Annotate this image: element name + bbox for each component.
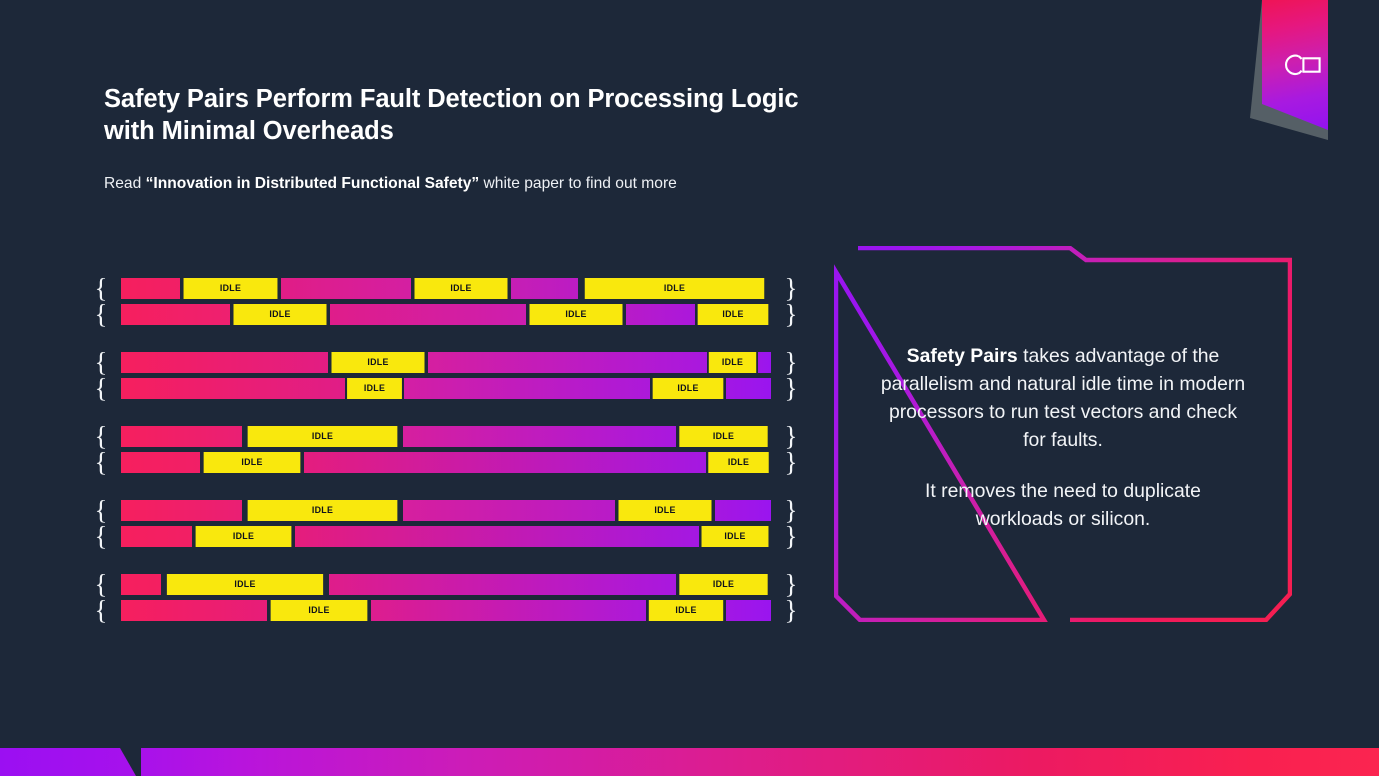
idle-segment: IDLE bbox=[653, 378, 724, 399]
work-segment bbox=[511, 278, 578, 299]
work-segment bbox=[626, 304, 695, 325]
work-segment bbox=[758, 352, 771, 373]
brace-open-icon: { bbox=[95, 278, 107, 299]
work-segment bbox=[715, 500, 771, 521]
bar-row: IDLEIDLE bbox=[121, 452, 771, 473]
work-segment bbox=[403, 500, 615, 521]
idle-segment: IDLE bbox=[702, 526, 769, 547]
idle-segment: IDLE bbox=[248, 426, 398, 447]
bar-group-2: {}IDLEIDLE{}IDLEIDLE bbox=[95, 352, 785, 404]
paragraph-spacer bbox=[880, 455, 1246, 477]
panel-body-text: Safety Pairs takes advantage of the para… bbox=[880, 342, 1246, 533]
panel-paragraph-1: Safety Pairs takes advantage of the para… bbox=[881, 345, 1245, 451]
subtitle-prefix: Read bbox=[104, 175, 146, 192]
idle-segment: IDLE bbox=[248, 500, 398, 521]
work-segment bbox=[403, 426, 676, 447]
bar-row: IDLEIDLE bbox=[121, 500, 771, 521]
brace-close-icon: } bbox=[785, 526, 797, 547]
idle-segment: IDLE bbox=[679, 574, 767, 595]
subtitle-emphasis: “Innovation in Distributed Functional Sa… bbox=[146, 175, 480, 192]
idle-segment: IDLE bbox=[649, 600, 723, 621]
idle-segment: IDLE bbox=[698, 304, 769, 325]
bar-row: IDLEIDLEIDLE bbox=[121, 304, 771, 325]
circle-square-logo-icon bbox=[1282, 52, 1322, 83]
bar-group-3: {}IDLEIDLE{}IDLEIDLE bbox=[95, 426, 785, 478]
footer-strip-main-segment bbox=[141, 748, 1379, 776]
panel-paragraph-2: It removes the need to duplicate workloa… bbox=[925, 480, 1201, 530]
footer-strip-left-segment bbox=[0, 748, 136, 776]
brace-close-icon: } bbox=[785, 600, 797, 621]
brace-close-icon: } bbox=[785, 426, 797, 447]
brace-close-icon: } bbox=[785, 278, 797, 299]
brace-close-icon: } bbox=[785, 352, 797, 373]
bar-row: IDLEIDLE bbox=[121, 352, 771, 373]
subtitle-suffix: white paper to find out more bbox=[479, 175, 677, 192]
idle-segment: IDLE bbox=[271, 600, 368, 621]
idle-segment: IDLE bbox=[709, 352, 756, 373]
work-segment bbox=[428, 352, 707, 373]
work-segment bbox=[121, 304, 230, 325]
page-title: Safety Pairs Perform Fault Detection on … bbox=[104, 83, 804, 147]
brace-close-icon: } bbox=[785, 304, 797, 325]
bar-row: IDLEIDLE bbox=[121, 600, 771, 621]
footer-decoration-strip bbox=[0, 748, 1379, 776]
brace-open-icon: { bbox=[95, 500, 107, 521]
panel-highlight: Safety Pairs bbox=[907, 345, 1018, 367]
idle-segment: IDLE bbox=[167, 574, 323, 595]
bar-group-4: {}IDLEIDLE{}IDLEIDLE bbox=[95, 500, 785, 552]
idle-segment: IDLE bbox=[679, 426, 767, 447]
work-segment bbox=[404, 378, 650, 399]
idle-segment: IDLE bbox=[530, 304, 623, 325]
brace-close-icon: } bbox=[785, 574, 797, 595]
bar-row: IDLEIDLEIDLE bbox=[121, 278, 771, 299]
work-segment bbox=[281, 278, 411, 299]
bar-group-5: {}IDLEIDLE{}IDLEIDLE bbox=[95, 574, 785, 626]
idle-segment: IDLE bbox=[332, 352, 425, 373]
page-subtitle: Read “Innovation in Distributed Function… bbox=[104, 173, 904, 194]
idle-segment: IDLE bbox=[415, 278, 508, 299]
brace-close-icon: } bbox=[785, 452, 797, 473]
work-segment bbox=[121, 352, 328, 373]
brace-open-icon: { bbox=[95, 304, 107, 325]
bar-group-1: {}IDLEIDLEIDLE{}IDLEIDLEIDLE bbox=[95, 278, 785, 330]
brace-close-icon: } bbox=[785, 378, 797, 399]
safety-pairs-timeline-diagram: {}IDLEIDLEIDLE{}IDLEIDLEIDLE{}IDLEIDLE{}… bbox=[95, 278, 785, 648]
info-panel: Safety Pairs takes advantage of the para… bbox=[834, 246, 1292, 622]
brace-open-icon: { bbox=[95, 426, 107, 447]
work-segment bbox=[121, 600, 267, 621]
work-segment bbox=[330, 304, 526, 325]
work-segment bbox=[121, 426, 242, 447]
brace-open-icon: { bbox=[95, 452, 107, 473]
brace-open-icon: { bbox=[95, 378, 107, 399]
bar-row: IDLEIDLE bbox=[121, 574, 771, 595]
bar-row: IDLEIDLE bbox=[121, 426, 771, 447]
brace-open-icon: { bbox=[95, 574, 107, 595]
idle-segment: IDLE bbox=[708, 452, 768, 473]
work-segment bbox=[295, 526, 699, 547]
idle-segment: IDLE bbox=[196, 526, 292, 547]
idle-segment: IDLE bbox=[204, 452, 301, 473]
work-segment bbox=[121, 378, 345, 399]
work-segment bbox=[371, 600, 646, 621]
brace-open-icon: { bbox=[95, 352, 107, 373]
work-segment bbox=[304, 452, 706, 473]
bar-row: IDLEIDLE bbox=[121, 526, 771, 547]
work-segment bbox=[121, 278, 180, 299]
work-segment bbox=[121, 500, 242, 521]
idle-segment: IDLE bbox=[585, 278, 764, 299]
idle-segment: IDLE bbox=[619, 500, 712, 521]
work-segment bbox=[121, 526, 192, 547]
work-segment bbox=[121, 452, 200, 473]
brace-open-icon: { bbox=[95, 526, 107, 547]
idle-segment: IDLE bbox=[347, 378, 402, 399]
brace-close-icon: } bbox=[785, 500, 797, 521]
bar-row: IDLEIDLE bbox=[121, 378, 771, 399]
idle-segment: IDLE bbox=[184, 278, 278, 299]
work-segment bbox=[726, 378, 771, 399]
work-segment bbox=[121, 574, 161, 595]
idle-segment: IDLE bbox=[234, 304, 327, 325]
work-segment bbox=[329, 574, 676, 595]
brand-logo-banner bbox=[1262, 0, 1332, 133]
work-segment bbox=[726, 600, 771, 621]
brace-open-icon: { bbox=[95, 600, 107, 621]
